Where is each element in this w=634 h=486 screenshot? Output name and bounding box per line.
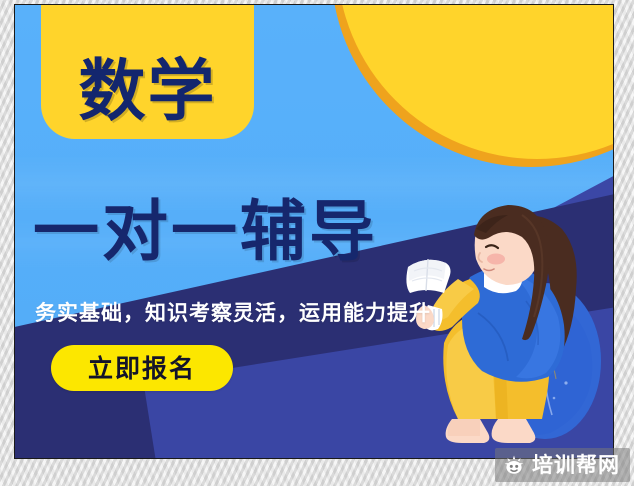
corner-arc-group [323, 5, 613, 180]
banner-canvas: 数学 一对一辅导 务实基础，知识考察灵活，运用能力提升 立即报名 [15, 5, 613, 458]
subtitle: 务实基础，知识考察灵活，运用能力提升 [35, 297, 431, 327]
subject-badge: 数学 [41, 5, 254, 139]
page-backdrop: 数学 一对一辅导 务实基础，知识考察灵活，运用能力提升 立即报名 [0, 0, 634, 486]
sun-face-icon [503, 454, 525, 476]
corner-arc-yellow [337, 5, 613, 159]
signup-button[interactable]: 立即报名 [51, 345, 233, 391]
subject-badge-label: 数学 [79, 58, 217, 125]
signup-button-label: 立即报名 [88, 356, 196, 381]
headline: 一对一辅导 [33, 196, 378, 267]
watermark-label: 培训帮网 [532, 455, 620, 476]
watermark: 培训帮网 [495, 448, 630, 482]
promo-banner: 数学 一对一辅导 务实基础，知识考察灵活，运用能力提升 立即报名 [14, 4, 614, 459]
illustration-seated-woman-reading [404, 193, 613, 458]
